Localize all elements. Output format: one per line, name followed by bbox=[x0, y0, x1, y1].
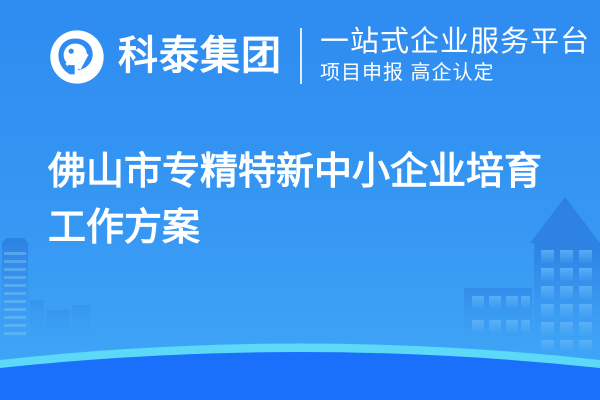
page-title: 佛山市专精特新中小企业培育工作方案 bbox=[48, 144, 558, 256]
promo-banner: 科泰集团 一站式企业服务平台 项目申报 高企认定 佛山市专精特新中小企业培育工作… bbox=[0, 0, 600, 400]
ketai-circular-logo-icon bbox=[48, 28, 106, 86]
tagline-main: 一站式企业服务平台 bbox=[320, 26, 590, 58]
left-low-buildings-silhouette bbox=[30, 300, 90, 348]
bottom-curved-arc bbox=[0, 344, 600, 400]
banner-header: 科泰集团 一站式企业服务平台 项目申报 高企认定 bbox=[0, 0, 600, 112]
right-small-building-silhouette bbox=[464, 288, 532, 354]
brand-name: 科泰集团 bbox=[118, 36, 282, 76]
header-divider bbox=[300, 28, 302, 84]
left-skyscraper-silhouette bbox=[2, 238, 28, 348]
tagline-sub: 项目申报 高企认定 bbox=[320, 60, 590, 86]
header-tagline: 一站式企业服务平台 项目申报 高企认定 bbox=[320, 26, 590, 86]
